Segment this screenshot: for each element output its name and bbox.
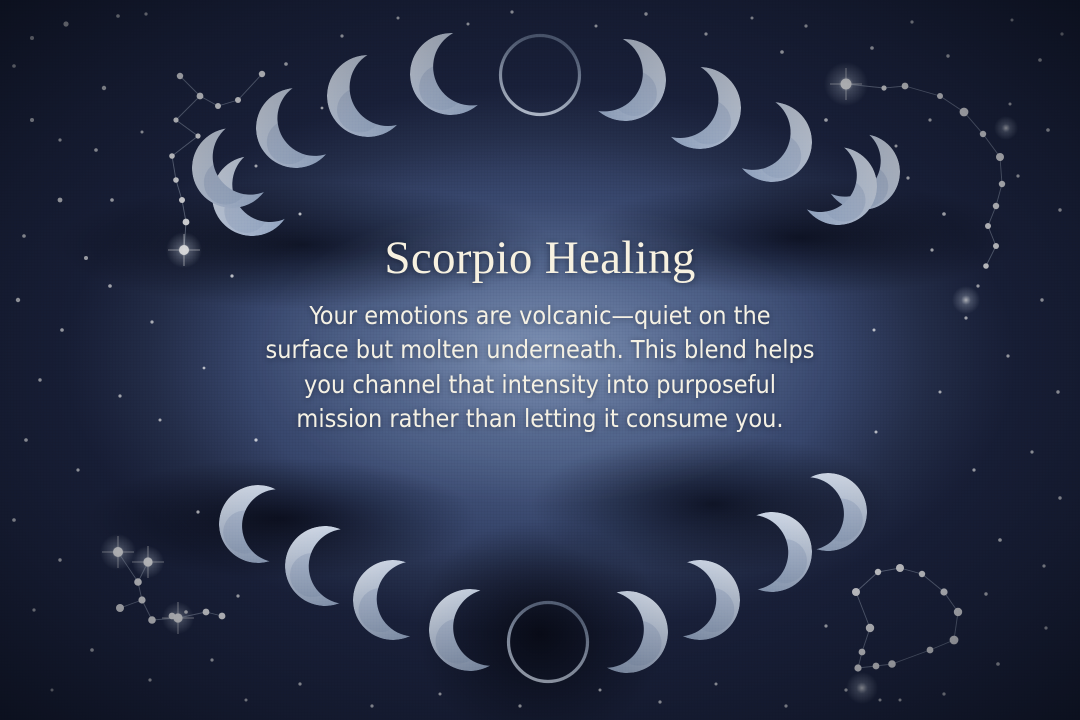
page-title: Scorpio Healing xyxy=(0,232,1080,285)
moon-phases-card: Scorpio Healing Your emotions are volcan… xyxy=(0,0,1080,720)
body-line: you channel that intensity into purposef… xyxy=(210,368,870,403)
text-block: Scorpio Healing Your emotions are volcan… xyxy=(0,232,1080,437)
body-line: mission rather than letting it consume y… xyxy=(210,402,870,437)
body-line: Your emotions are volcanic—quiet on the xyxy=(210,299,870,334)
body-line: surface but molten underneath. This blen… xyxy=(210,333,870,368)
body-copy: Your emotions are volcanic—quiet on thes… xyxy=(210,299,870,437)
